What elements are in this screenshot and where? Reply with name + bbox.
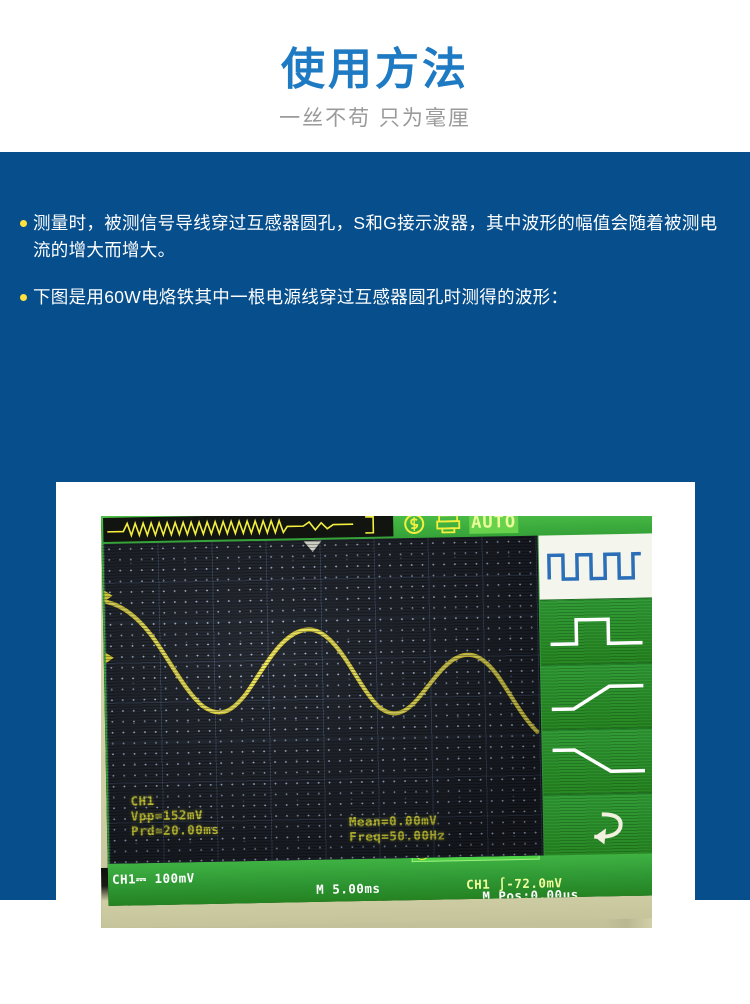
menu-item-square-wave[interactable] [538, 533, 652, 600]
menu-item-falling-ramp[interactable] [542, 728, 652, 795]
menu-item-return-arrow[interactable] [543, 793, 652, 860]
scope-display-area: CH1 Vpp=152mV Prd=20.00ms Mean=0.00mV Fr… [104, 536, 544, 864]
channel-offset-marker[interactable] [104, 590, 113, 602]
instruction-list: 测量时，被测信号导线穿过互感器圆孔，S和G接示波器，其中波形的幅值会随着被测电流… [20, 210, 732, 331]
page-subtitle: 一丝不苟 只为毫厘 [0, 108, 750, 129]
measurement-readout-right: Mean=0.00mV Freq=50.00Hz [349, 812, 446, 844]
trigger-level-marker[interactable] [105, 652, 114, 664]
trigger-position-marker[interactable] [304, 541, 322, 552]
oscilloscope-body: AUTO CH1 Vpp=152mV Prd=20.00ms Mean=0.00… [101, 516, 652, 906]
scope-softkey-menu [538, 533, 652, 855]
printer-icon[interactable] [435, 516, 461, 535]
list-item-text: 下图是用60W电烙铁其中一根电源线穿过互感器圆孔时测得的波形： [33, 284, 568, 311]
dollar-badge-icon[interactable] [401, 516, 427, 535]
channel-scale-label: CH1⎓ 100mV [112, 870, 195, 888]
auto-mode-label: AUTO [469, 516, 518, 534]
timebase-label: M 5.00ms [316, 881, 380, 897]
list-item-text: 测量时，被测信号导线穿过互感器圆孔，S和G接示波器，其中波形的幅值会随着被测电流… [33, 210, 732, 264]
menu-item-step-edge[interactable] [540, 598, 652, 665]
list-item: 测量时，被测信号导线穿过互感器圆孔，S和G接示波器，其中波形的幅值会随着被测电流… [20, 210, 732, 264]
photo-card: AUTO CH1 Vpp=152mV Prd=20.00ms Mean=0.00… [56, 482, 695, 1004]
bullet-dot-icon [20, 220, 27, 227]
page-title: 使用方法 [0, 48, 750, 92]
oscilloscope-photo: AUTO CH1 Vpp=152mV Prd=20.00ms Mean=0.00… [101, 516, 652, 928]
menu-item-rising-ramp[interactable] [541, 663, 652, 730]
waveform-preview [103, 516, 393, 542]
bullet-dot-icon [20, 294, 27, 301]
measurement-readout-left: CH1 Vpp=152mV Prd=20.00ms [130, 792, 219, 839]
content-section: 测量时，被测信号导线穿过互感器圆孔，S和G接示波器，其中波形的幅值会随着被测电流… [0, 152, 750, 900]
list-item: 下图是用60W电烙铁其中一根电源线穿过互感器圆孔时测得的波形： [20, 284, 732, 311]
